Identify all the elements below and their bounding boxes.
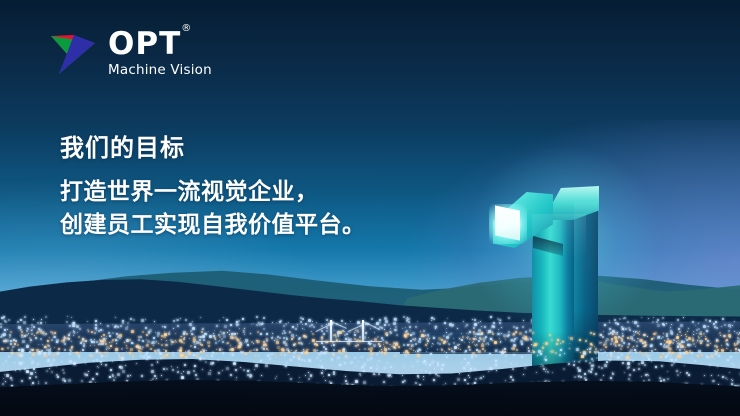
bridge-deck	[316, 341, 382, 343]
bridge-cable	[363, 321, 380, 330]
copy-heading: 我们的目标	[60, 132, 480, 164]
bridge-cable	[331, 321, 347, 329]
copy-line-1: 打造世界一流视觉企业，	[60, 176, 480, 209]
copy-body: 打造世界一流视觉企业， 创建员工实现自我价值平台。	[60, 176, 480, 242]
suspension-bridge-icon	[316, 312, 382, 346]
opt-logo[interactable]: OPT® Machine Vision	[48, 28, 248, 90]
vision-copy-block: 我们的目标 打造世界一流视觉企业， 创建员工实现自我价值平台。	[60, 132, 480, 242]
bridge-cable	[348, 325, 363, 332]
opt-wordmark: OPT	[108, 27, 181, 61]
opt-tagline: Machine Vision	[108, 62, 258, 79]
opt-triangle-logo-icon	[48, 30, 104, 82]
registered-trademark-icon: ®	[181, 24, 191, 34]
bridge-tower	[362, 320, 364, 342]
bridge-cable	[316, 324, 331, 332]
copy-line-2: 创建员工实现自我价值平台。	[60, 209, 480, 242]
vision-slide: OPT® Machine Vision 我们的目标 打造世界一流视觉企业， 创建…	[0, 0, 740, 416]
monument-tip-face	[495, 205, 520, 240]
opt-wordmark-block: OPT® Machine Vision	[108, 27, 258, 79]
bridge-tower	[330, 320, 332, 342]
